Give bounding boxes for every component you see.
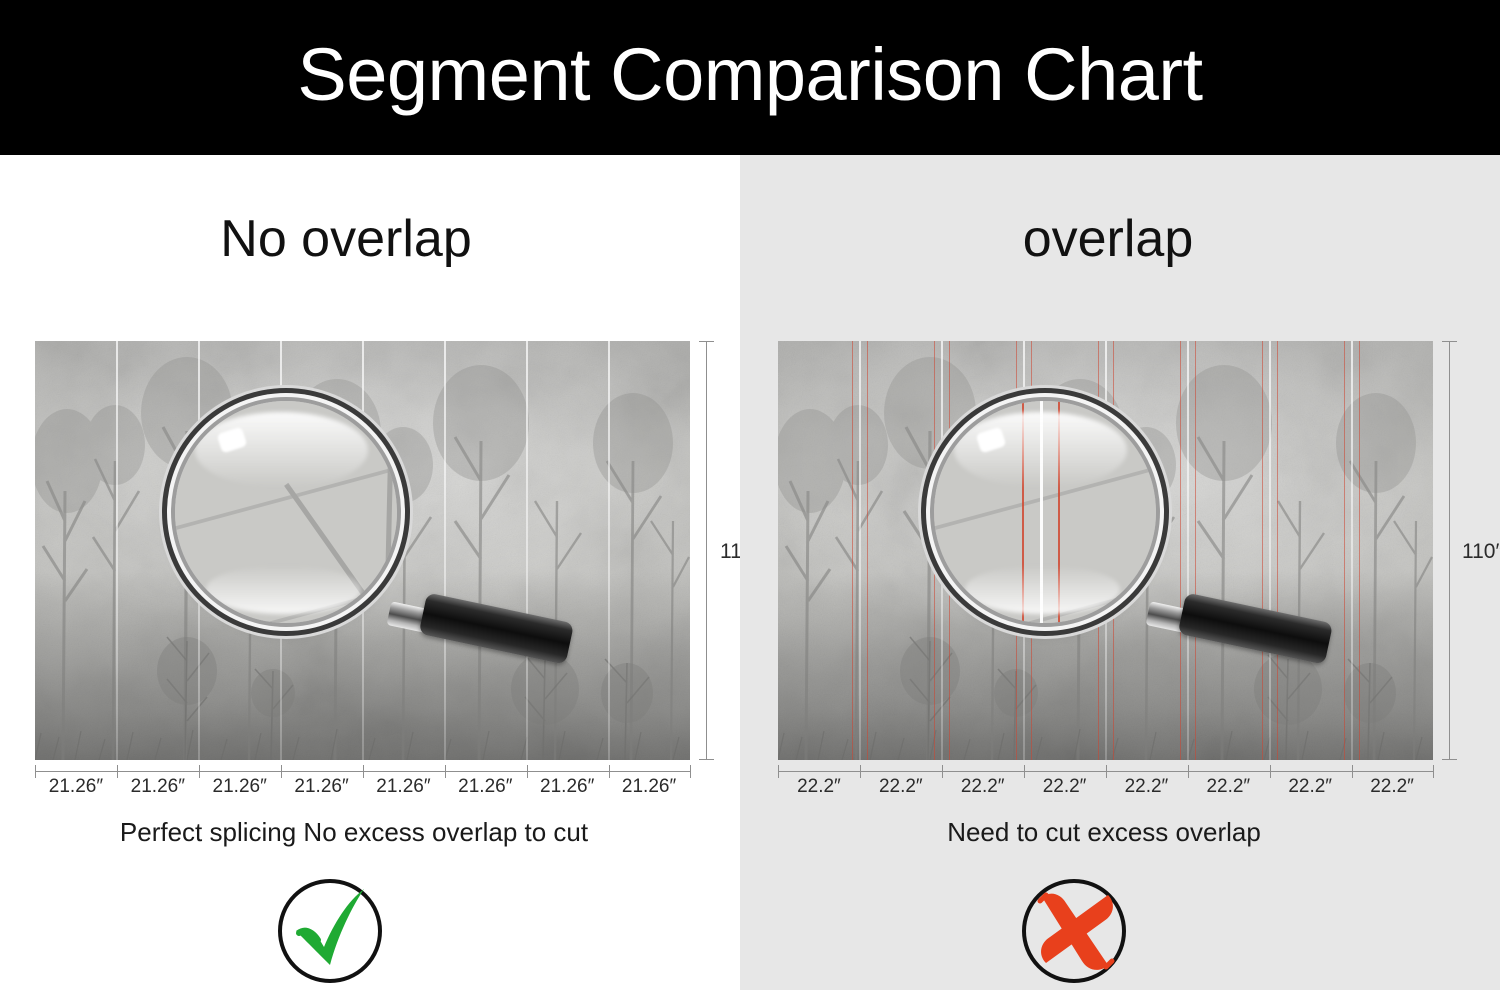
height-dimension-line	[706, 341, 707, 760]
page-title: Segment Comparison Chart	[297, 38, 1202, 112]
panel-overlap: overlap	[740, 155, 1500, 990]
verdict-check	[272, 873, 388, 989]
segment-comparison-page: Segment Comparison Chart No overlap	[0, 0, 1500, 990]
mural-overlap	[778, 341, 1433, 760]
caption-no-overlap: Perfect splicing No excess overlap to cu…	[0, 819, 724, 845]
segment-label: 21.26″	[199, 776, 281, 798]
segment-label: 21.26″	[117, 776, 199, 798]
segment-label: 21.26″	[444, 776, 526, 798]
lens-glare	[965, 565, 1120, 614]
segment-label: 22.2″	[860, 776, 942, 798]
comparison-panels: No overlap	[0, 155, 1500, 990]
magnifier-lens	[175, 401, 397, 623]
segment-label: 21.26″	[281, 776, 363, 798]
panel-heading-overlap: overlap	[728, 213, 1488, 265]
panel-no-overlap: No overlap	[0, 155, 740, 990]
mural-no-overlap	[35, 341, 690, 760]
lens-glare	[206, 565, 361, 614]
segment-label: 22.2″	[1351, 776, 1433, 798]
page-header: Segment Comparison Chart	[0, 0, 1500, 155]
panel-heading-no-overlap: No overlap	[0, 213, 716, 265]
segment-label: 22.2″	[942, 776, 1024, 798]
segment-label: 22.2″	[1269, 776, 1351, 798]
segment-label: 22.2″	[778, 776, 860, 798]
height-dimension-label: 110″	[1462, 540, 1500, 564]
height-dimension-line	[1449, 341, 1450, 760]
check-mark-icon	[272, 873, 388, 989]
segment-label: 21.26″	[608, 776, 690, 798]
caption-overlap: Need to cut excess overlap	[724, 819, 1484, 845]
magnifier-lens	[934, 401, 1156, 623]
segment-label: 21.26″	[526, 776, 608, 798]
segment-label: 22.2″	[1106, 776, 1188, 798]
segment-label: 21.26″	[35, 776, 117, 798]
segment-label: 22.2″	[1187, 776, 1269, 798]
segment-label: 21.26″	[363, 776, 445, 798]
segment-labels-overlap: 22.2″ 22.2″ 22.2″ 22.2″ 22.2″ 22.2″ 22.2…	[778, 776, 1433, 798]
segment-label: 22.2″	[1024, 776, 1106, 798]
cross-mark-icon	[1016, 873, 1132, 989]
verdict-cross	[1016, 873, 1132, 989]
segment-labels-no-overlap: 21.26″ 21.26″ 21.26″ 21.26″ 21.26″ 21.26…	[35, 776, 690, 798]
